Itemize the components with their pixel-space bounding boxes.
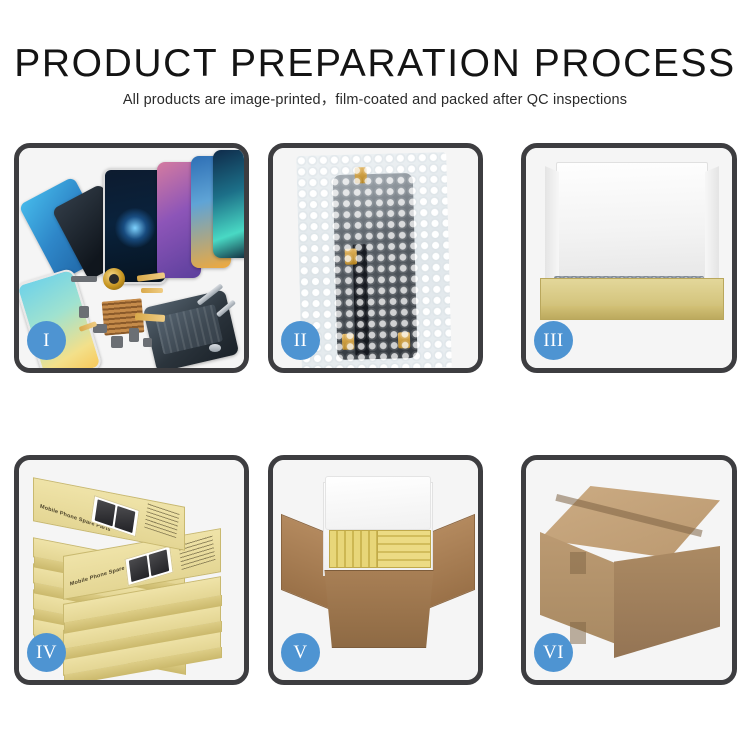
step-badge-2: II	[281, 321, 320, 360]
chip-part	[111, 336, 123, 348]
step-badge-6: VI	[534, 633, 573, 672]
process-step-card-5: V	[268, 455, 483, 685]
box-product-photo	[90, 495, 139, 537]
screw-part	[209, 344, 221, 352]
process-step-card-2: II	[268, 143, 483, 373]
teal-wave-phone	[213, 150, 249, 258]
part-connector	[398, 332, 410, 348]
kraft-box-front-lip	[541, 306, 723, 319]
foam-liner-lid	[325, 476, 431, 530]
wrapped-phone-part	[333, 173, 418, 360]
carton-front-panel	[317, 570, 441, 648]
packed-yellow-boxes	[377, 530, 431, 568]
opened-phone-housing	[143, 289, 240, 372]
step-badge-4: IV	[27, 633, 66, 672]
chip-part	[79, 306, 89, 318]
step-badge-1: I	[27, 321, 66, 360]
white-front-phone	[15, 268, 103, 373]
chip-part	[71, 276, 97, 282]
carton-handle-tab	[570, 622, 586, 644]
process-step-card-6: VI	[521, 455, 737, 685]
process-steps-grid: I II III	[0, 0, 750, 750]
speaker-coil-part	[103, 268, 125, 290]
step-badge-5: V	[281, 633, 320, 672]
carton-handle-tab	[570, 552, 586, 574]
white-foam-lid	[556, 162, 708, 286]
chip-part	[129, 328, 139, 342]
box-spec-lines	[144, 502, 179, 538]
part-connector	[355, 167, 367, 183]
carton-right-panel	[614, 546, 720, 658]
process-step-card-1: I	[14, 143, 249, 373]
process-step-card-3: III	[521, 143, 737, 373]
process-step-card-4: Mobile Phone Spare Parts Mobile Phone Sp…	[14, 455, 249, 685]
flex-cable-part	[141, 288, 163, 293]
part-connector	[344, 248, 356, 264]
chip-part	[143, 338, 152, 347]
part-connector	[342, 334, 354, 350]
printed-box-lid: Mobile Phone Spare Parts	[33, 477, 185, 551]
step-badge-3: III	[534, 321, 573, 360]
screen-wallpaper-glow	[115, 208, 155, 248]
kraft-box-base	[540, 278, 724, 320]
